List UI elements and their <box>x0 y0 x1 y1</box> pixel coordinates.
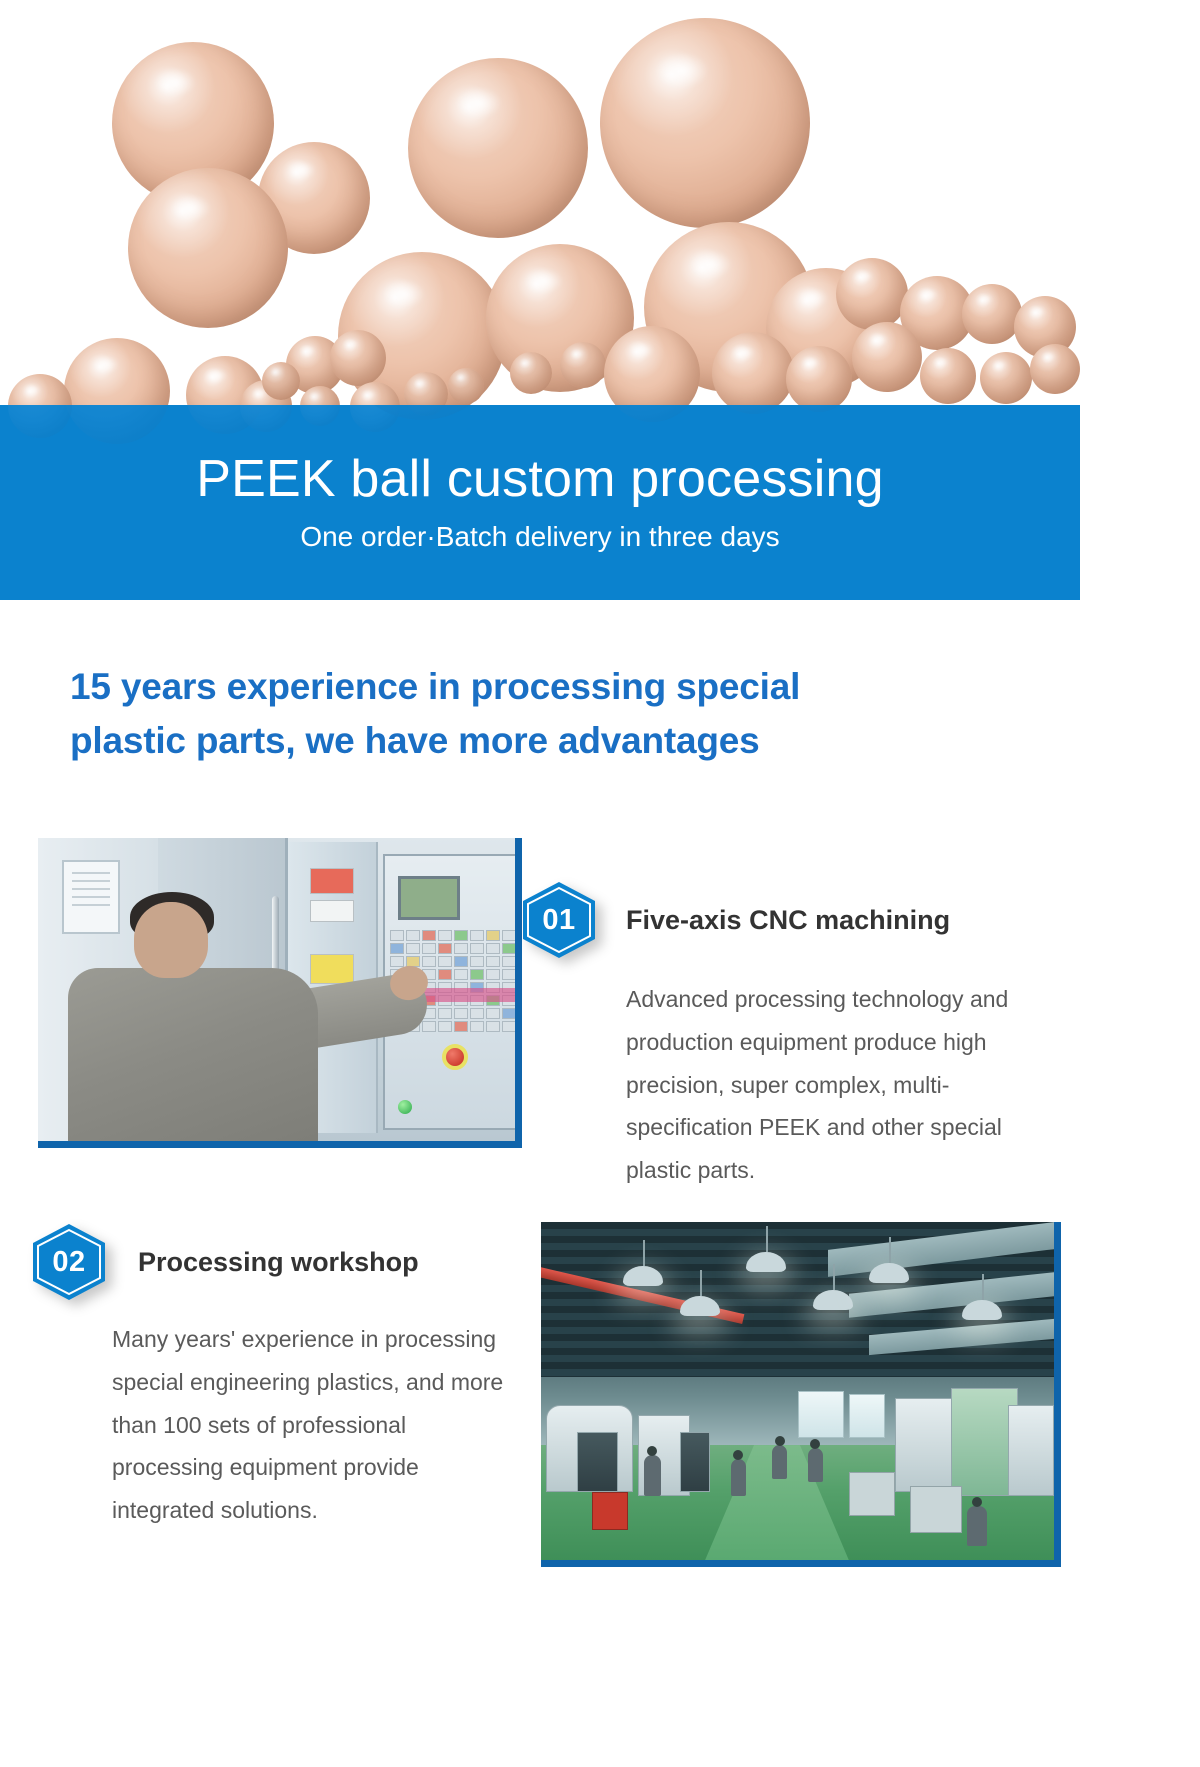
feature-card-02: 02 Processing workshop Many years' exper… <box>30 1222 530 1532</box>
hexagon-badge-icon: 02 <box>30 1222 108 1302</box>
section-heading-line-2: plastic parts, we have more advantages <box>70 714 1060 768</box>
feature-title: Processing workshop <box>138 1247 419 1278</box>
section-heading-line-1: 15 years experience in processing specia… <box>70 660 1060 714</box>
hero-subtitle: One order·Batch delivery in three days <box>300 521 779 553</box>
hero-banner: PEEK ball custom processing One order·Ba… <box>0 0 1080 600</box>
hexagon-badge-icon: 01 <box>520 880 598 960</box>
feature-card-01: 01 Five-axis CNC machining Advanced proc… <box>520 880 1065 1192</box>
hero-title: PEEK ball custom processing <box>196 452 884 507</box>
cnc-machining-photo <box>38 838 522 1148</box>
feature-title: Five-axis CNC machining <box>626 905 950 936</box>
feature-body: Many years' experience in processing spe… <box>112 1318 512 1532</box>
feature-number: 01 <box>520 880 598 960</box>
section-heading: 15 years experience in processing specia… <box>70 660 1060 767</box>
feature-number: 02 <box>30 1222 108 1302</box>
promo-page: PEEK ball custom processing One order·Ba… <box>0 0 1200 1767</box>
feature-body: Advanced processing technology and produ… <box>626 978 1061 1192</box>
workshop-photo <box>541 1222 1061 1567</box>
